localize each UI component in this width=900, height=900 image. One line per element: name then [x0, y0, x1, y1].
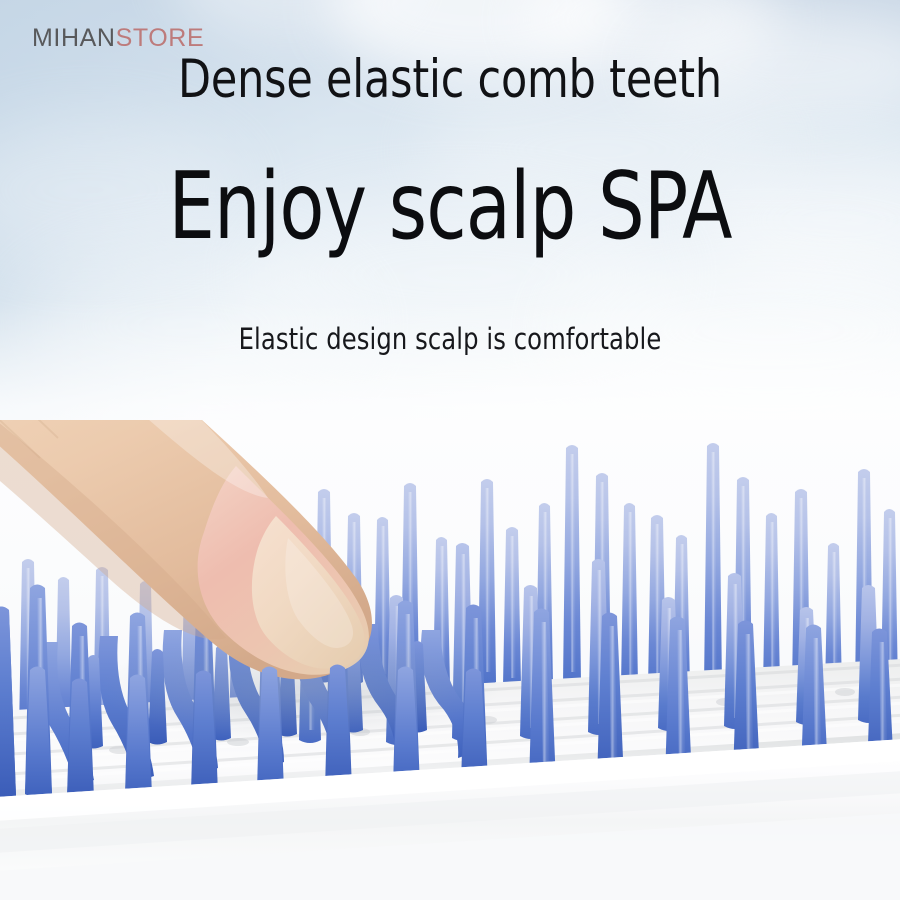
- brand-name-primary: MIHAN: [32, 24, 116, 52]
- subtitle-text: Elastic design scalp is comfortable: [32, 322, 869, 357]
- product-photo: [0, 420, 900, 900]
- headline-primary: Dense elastic comb teeth: [45, 52, 855, 108]
- headline-secondary: Enjoy scalp SPA: [54, 158, 846, 256]
- comb-illustration: [0, 420, 900, 900]
- brand-name-secondary: STORE: [116, 24, 205, 52]
- brand-logo: MIHANSTORE: [32, 26, 204, 51]
- product-banner: MIHANSTORE Dense elastic comb teeth Enjo…: [0, 0, 900, 900]
